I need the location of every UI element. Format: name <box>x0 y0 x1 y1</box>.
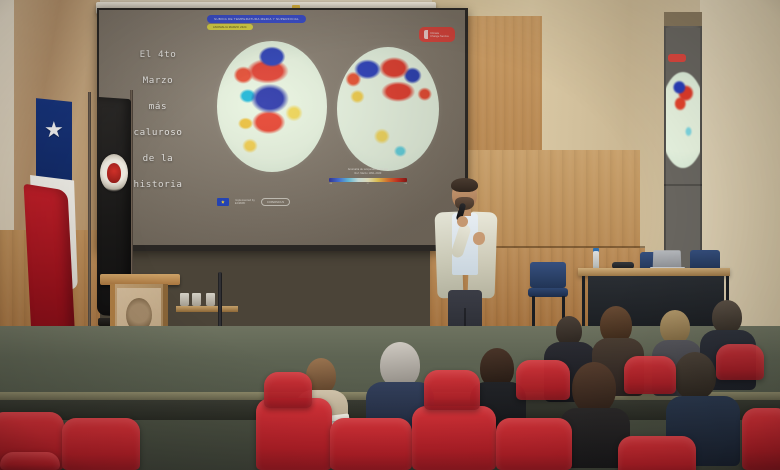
presenter-hair <box>451 178 478 192</box>
slide-subtitle-banner: ANOMALIA MARZO 2024 <box>207 24 253 30</box>
auditorium-seat <box>256 398 332 470</box>
water-glass <box>192 293 201 306</box>
chile-flagpole <box>88 92 91 354</box>
colorbar-legend: Anomalía de temperatura del aire Ref. Ma… <box>325 168 411 185</box>
presenter-hand-left <box>457 216 468 227</box>
copernicus-pill-logo: COPERNICUS <box>261 198 290 206</box>
presenter-hand-right <box>473 232 485 245</box>
colorbar-max-label: +10 <box>403 183 407 185</box>
secondary-globe-icon <box>666 72 700 168</box>
side-shelf <box>176 306 238 312</box>
blue-chair-leg <box>532 296 535 330</box>
auditorium-seat <box>742 408 780 470</box>
projection-screen: SUBIDA DE TEMPERATURA MEDIA Y SUPERFICIA… <box>99 10 465 245</box>
gap-frame-top <box>664 12 702 26</box>
water-glass <box>180 293 189 306</box>
blue-chair <box>530 262 566 288</box>
auditorium-seat <box>412 406 496 470</box>
colorbar-gradient <box>329 178 407 182</box>
auditorium-seat <box>618 436 696 470</box>
slide-title-banner: SUBIDA DE TEMPERATURA MEDIA Y SUPERFICIA… <box>207 15 306 23</box>
colorbar-caption-2: Ref. Marzo 1991-2020 <box>325 172 411 176</box>
auditorium-scene: SUBIDA DE TEMPERATURA MEDIA Y SUPERFICIA… <box>0 0 780 470</box>
gap-door-line <box>664 184 702 186</box>
auditorium-seat <box>62 418 140 470</box>
temperature-anomaly-globe-left <box>217 41 327 172</box>
slide-footer-logos: ⭐ Implemented by ECMWF COPERNICUS <box>217 198 290 206</box>
eu-logo-line-2: ECMWF <box>235 202 255 205</box>
badge-line-2: Change Service <box>430 35 449 38</box>
chile-flag: ★ <box>30 100 82 350</box>
colorbar-min-label: -10 <box>329 183 332 185</box>
auditorium-seat <box>264 372 312 408</box>
auditorium-seat <box>496 418 572 470</box>
eu-flag-icon: ⭐ <box>217 198 229 206</box>
copernicus-mark-icon <box>424 30 428 39</box>
copernicus-badge: Climate Change Service <box>419 27 455 42</box>
back-table-top <box>578 268 730 276</box>
auditorium-seat <box>624 356 676 394</box>
auditorium-seat <box>0 452 60 470</box>
attendee-back-right-head <box>712 300 742 334</box>
university-crest-icon <box>100 154 128 192</box>
secondary-badge-icon <box>668 54 686 62</box>
temperature-anomaly-globe-right <box>337 47 439 171</box>
colorbar-unit-label: °C <box>367 183 369 185</box>
attendee-woman-blonde-head <box>660 310 690 344</box>
auditorium-seat <box>330 418 412 470</box>
auditorium-seat <box>716 344 764 380</box>
auditorium-seat <box>516 360 570 400</box>
water-glass <box>206 293 215 306</box>
verse-line-1: El 4to <box>119 42 197 68</box>
auditorium-seat <box>424 370 480 410</box>
water-bottle <box>593 251 599 269</box>
attendee-woman-long-hair-head <box>572 362 616 414</box>
attendee-man-blue-shirt-head <box>674 352 716 400</box>
